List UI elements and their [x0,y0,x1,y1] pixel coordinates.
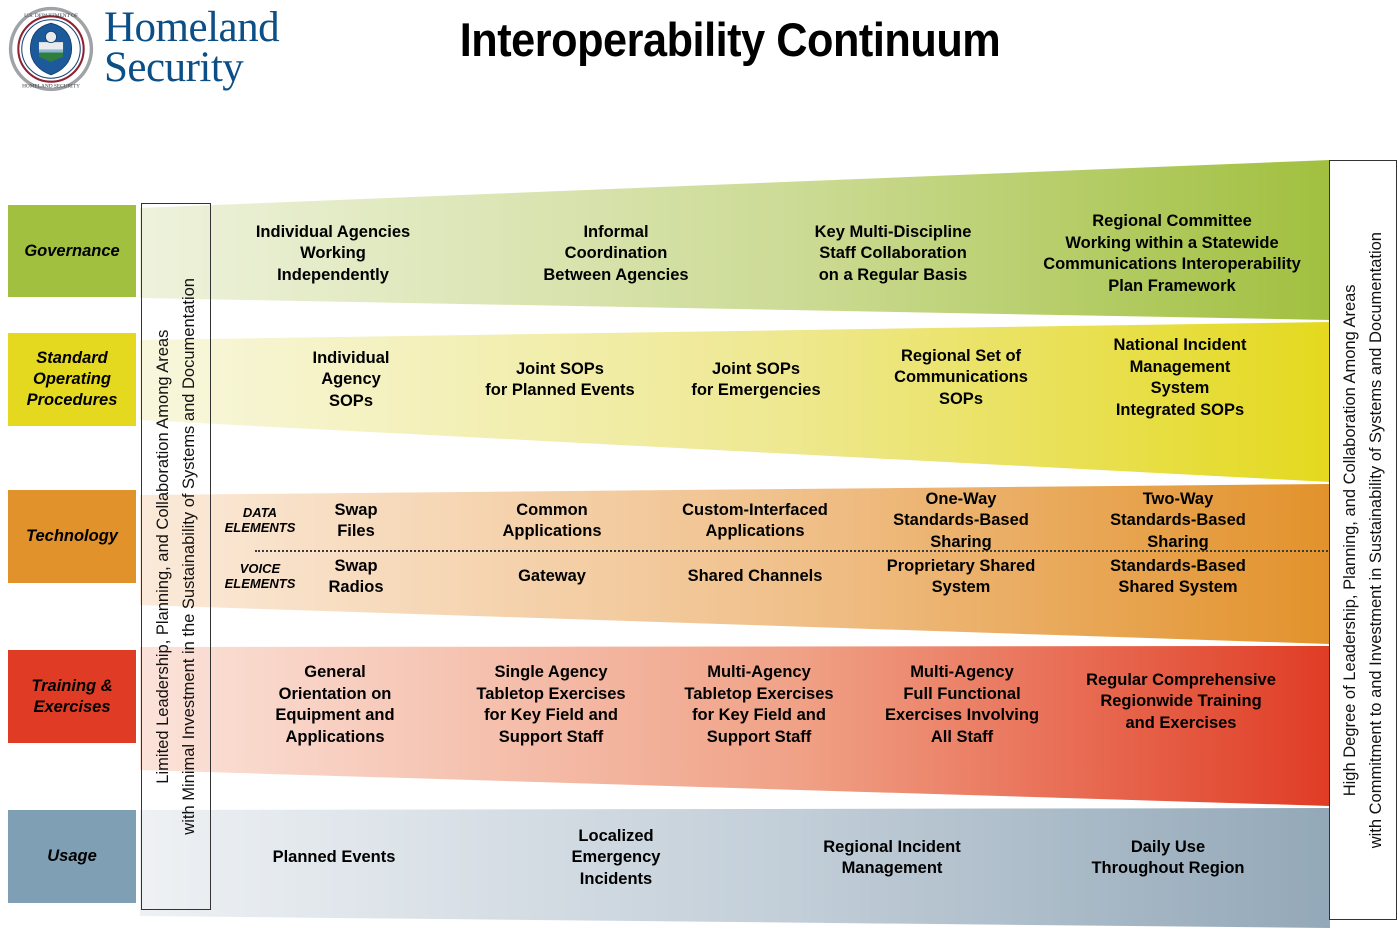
cell-tech-data-4: One-Way Standards-Based Sharing [868,488,1054,554]
right-caption-text: High Degree of Leadership, Planning, and… [1337,232,1389,848]
cell-tech-voice-2: Gateway [452,554,652,600]
cell-governance-2: Informal Coordination Between Agencies [500,208,732,300]
sublabel-voice-elements: VOICE ELEMENTS [214,556,306,596]
cell-sop-3: Joint SOPs for Emergencies [666,334,846,426]
lane-label-sop[interactable]: Standard Operating Procedures [8,333,136,426]
cell-training-2: Single Agency Tabletop Exercises for Key… [448,650,654,760]
lane-label-technology[interactable]: Technology [8,490,136,583]
dhs-seal-icon: U.S. DEPARTMENT OF HOMELAND SECURITY [8,6,94,92]
continuum-diagram: Governance Standard Operating Procedures… [0,150,1398,930]
lane-label-sop-text: Standard Operating Procedures [27,348,118,411]
left-caption-text: Limited Leadership, Planning, and Collab… [150,278,202,835]
cell-training-1: General Orientation on Equipment and App… [240,650,430,760]
lane-label-usage-text: Usage [47,846,97,867]
page-header: U.S. DEPARTMENT OF HOMELAND SECURITY Hom… [0,0,1398,150]
cell-usage-3: Regional Incident Management [796,812,988,904]
cell-sop-2: Joint SOPs for Planned Events [452,334,668,426]
dhs-wordmark-line1: Homeland [104,8,404,48]
svg-text:U.S. DEPARTMENT OF: U.S. DEPARTMENT OF [24,13,78,19]
cell-usage-4: Daily Use Throughout Region [1070,812,1266,904]
cell-governance-3: Key Multi-Discipline Staff Collaboration… [785,208,1001,300]
cell-training-4: Multi-Agency Full Functional Exercises I… [864,650,1060,760]
cell-usage-1: Planned Events [238,812,430,904]
cell-tech-voice-3: Shared Channels [660,554,850,600]
right-caption-box: High Degree of Leadership, Planning, and… [1329,160,1397,920]
cell-training-3: Multi-Agency Tabletop Exercises for Key … [660,650,858,760]
cell-governance-4: Regional Committee Working within a Stat… [1022,202,1322,306]
cell-usage-2: Localized Emergency Incidents [520,812,712,904]
lane-label-governance-text: Governance [24,241,119,262]
lane-label-technology-text: Technology [26,526,118,547]
dhs-wordmark-line2: Security [104,48,404,88]
lane-label-usage[interactable]: Usage [8,810,136,903]
cell-training-5: Regular Comprehensive Regionwide Trainin… [1062,656,1300,748]
lane-label-training-text: Training & Exercises [31,676,112,718]
cell-tech-data-2: Common Applications [452,498,652,544]
cell-sop-5: National Incident Management System Inte… [1080,324,1280,432]
dhs-wordmark: Homeland Security [104,8,404,90]
left-caption-box: Limited Leadership, Planning, and Collab… [141,203,211,910]
cell-sop-4: Regional Set of Communications SOPs [862,328,1060,428]
cell-tech-data-5: Two-Way Standards-Based Sharing [1078,488,1278,554]
cell-tech-data-3: Custom-Interfaced Applications [660,498,850,544]
page-title: Interoperability Continuum [362,12,1098,67]
lane-label-governance[interactable]: Governance [8,205,136,297]
cell-tech-voice-1: Swap Radios [306,554,406,600]
cell-governance-1: Individual Agencies Working Independentl… [218,208,448,300]
cell-tech-voice-5: Standards-Based Shared System [1078,554,1278,600]
sublabel-data-elements: DATA ELEMENTS [214,500,306,540]
svg-text:HOMELAND SECURITY: HOMELAND SECURITY [22,84,80,90]
cell-tech-data-1: Swap Files [306,498,406,544]
cell-sop-1: Individual Agency SOPs [256,334,446,426]
lane-label-training[interactable]: Training & Exercises [8,650,136,743]
cell-tech-voice-4: Proprietary Shared System [868,554,1054,600]
